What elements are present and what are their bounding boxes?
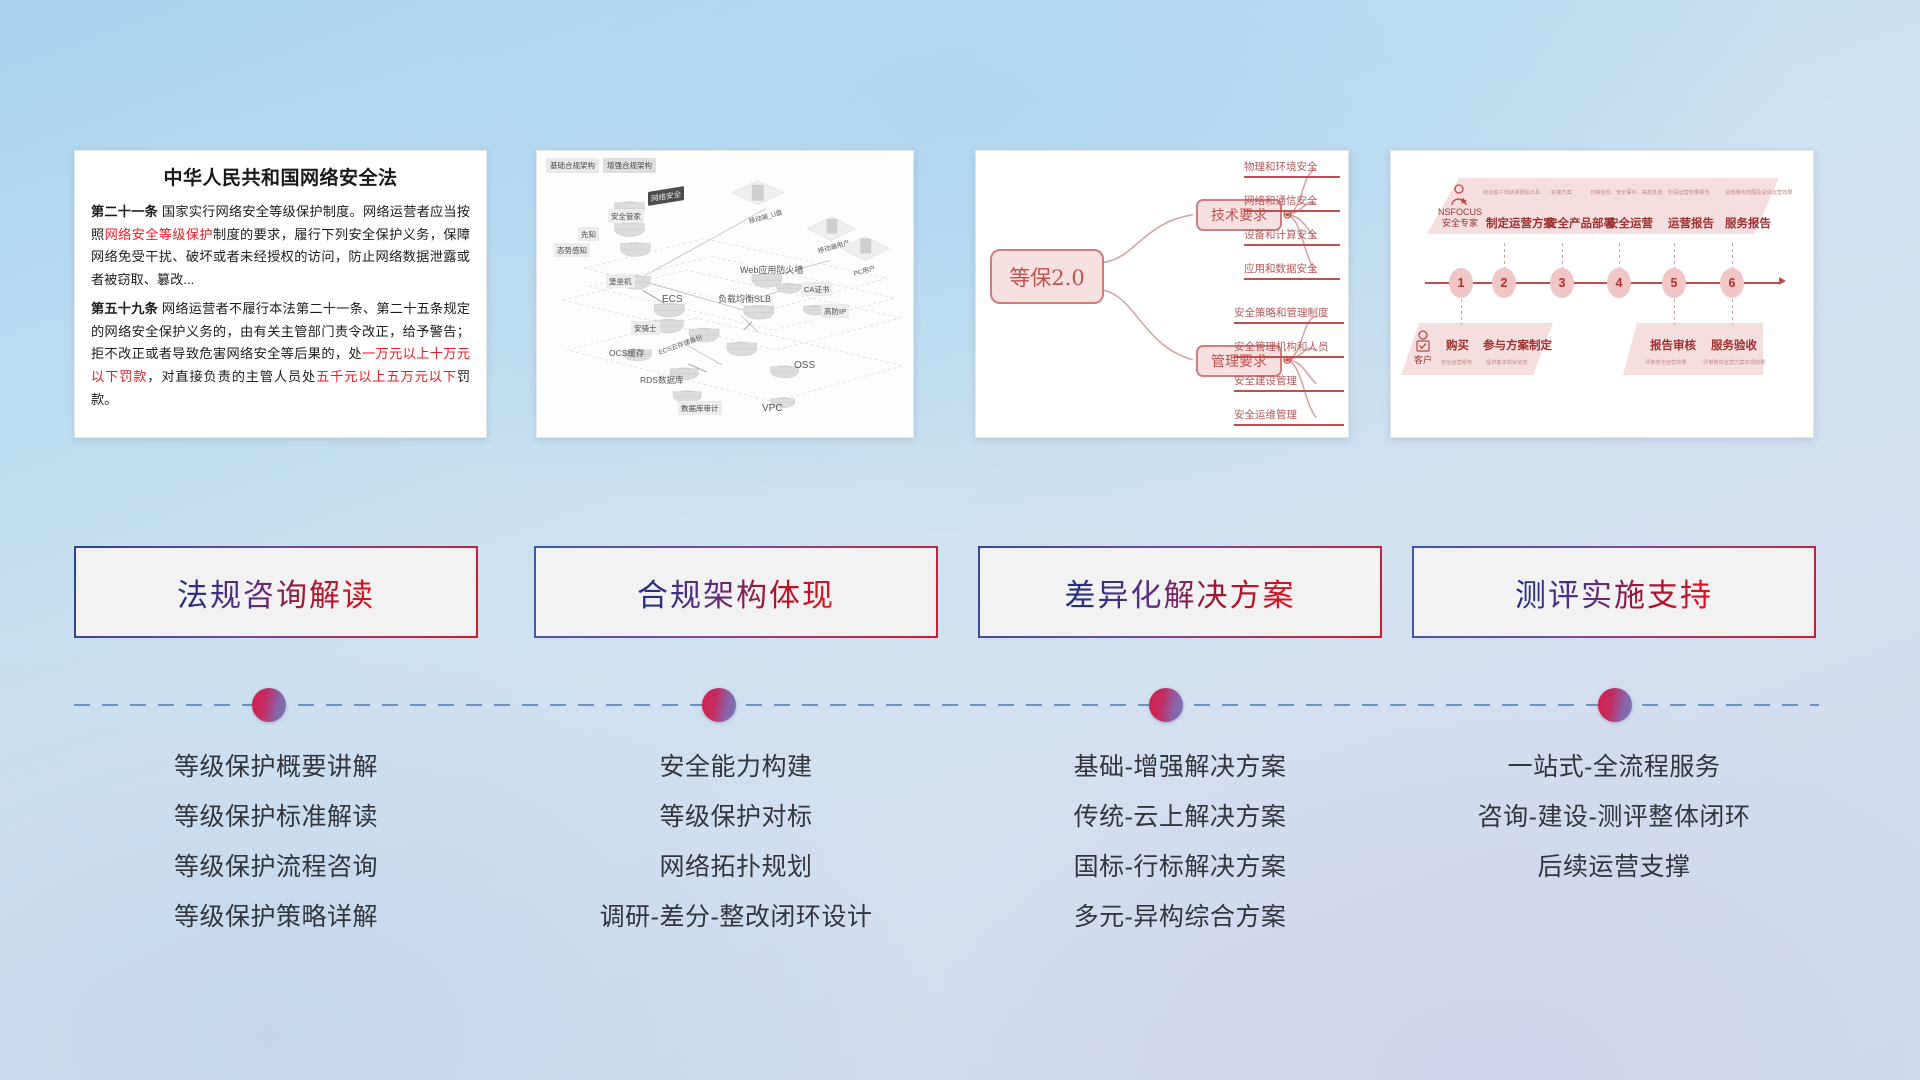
list-item: 传统-云上解决方案 bbox=[978, 792, 1382, 842]
law-article-21-label: 第二十一条 bbox=[91, 204, 158, 219]
arch-node-waf: Web应用防火墙 bbox=[737, 261, 806, 277]
section-header-evaluation-support[interactable]: 测评实施支持 bbox=[1412, 546, 1816, 638]
mindmap-leaf-label: 安全建设管理 bbox=[1234, 375, 1297, 387]
provider-role-line-2: 安全专家 bbox=[1442, 218, 1478, 228]
list-item: 调研-差分-整改闭环设计 bbox=[534, 892, 938, 942]
mindmap-leaf-app-data: 应用和数据安全 bbox=[1244, 261, 1340, 282]
card-compliance-architecture[interactable]: 基础合规架构 增强合规架构 bbox=[536, 150, 914, 438]
process-connector-1 bbox=[1461, 299, 1462, 325]
card-nsfocus-service-process[interactable]: NSFOCUS 安全专家 客户 结合客户现状调研后出具 制定运营方案 实施方案 … bbox=[1390, 150, 1814, 438]
mindmap-leaf-label: 安全运维管理 bbox=[1234, 409, 1297, 421]
process-step-1-note: 安全运营服务 bbox=[1441, 359, 1472, 366]
process-step-3-title: 安全产品部署 bbox=[1546, 215, 1615, 231]
process-node-6: 6 bbox=[1720, 268, 1744, 298]
section-header-label: 测评实施支持 bbox=[1515, 570, 1713, 615]
process-connector-6 bbox=[1732, 243, 1733, 269]
architecture-diagram: 基础合规架构 增强合规架构 bbox=[537, 151, 913, 437]
mindmap-leaf-ops-mgmt: 安全运维管理 bbox=[1234, 407, 1344, 428]
process-connector-4 bbox=[1619, 243, 1620, 269]
list-item: 一站式-全流程服务 bbox=[1412, 742, 1816, 792]
mindmap-leaf-org-personnel: 安全管理机构和人员 bbox=[1234, 339, 1344, 360]
process-node-1: 1 bbox=[1449, 268, 1473, 298]
list-item: 等级保护概要讲解 bbox=[74, 742, 478, 792]
process-step-4-title: 安全运营 bbox=[1607, 215, 1653, 231]
arch-node-anqishi: 安骑士 bbox=[631, 321, 660, 335]
thumbnail-card-row: 中华人民共和国网络安全法 第二十一条 国家实行网络安全等级保护制度。网络运营者应… bbox=[0, 150, 1920, 440]
timeline-dot-3[interactable] bbox=[1149, 688, 1183, 722]
mindmap-leaf-policy-system: 安全策略和管理制度 bbox=[1234, 305, 1344, 326]
detail-list-regulation-consulting: 等级保护概要讲解 等级保护标准解读 等级保护流程咨询 等级保护策略详解 bbox=[74, 742, 478, 942]
process-connector-6b bbox=[1732, 299, 1733, 325]
process-connector-5b bbox=[1674, 299, 1675, 325]
section-header-label: 差异化解决方案 bbox=[1065, 570, 1296, 615]
slide-canvas: 中华人民共和国网络安全法 第二十一条 国家实行网络安全等级保护制度。网络运营者应… bbox=[0, 0, 1920, 1080]
list-item: 国标-行标解决方案 bbox=[978, 842, 1382, 892]
law-article-59: 第五十九条 网络运营者不履行本法第二十一条、第二十五条规定的网络安全保护义务的，… bbox=[91, 298, 470, 412]
list-item: 网络拓扑规划 bbox=[534, 842, 938, 892]
list-item: 等级保护流程咨询 bbox=[74, 842, 478, 892]
law-article-59-part2: ，对直接负责的主管人员处 bbox=[147, 369, 316, 384]
process-connector-3 bbox=[1562, 243, 1563, 269]
list-item: 多元-异构综合方案 bbox=[978, 892, 1382, 942]
process-node-5: 5 bbox=[1662, 268, 1686, 298]
process-step-5b-note: 评审安全运营效果 bbox=[1645, 359, 1687, 366]
process-step-2-note: 结合客户现状调研后出具 bbox=[1483, 189, 1540, 196]
arch-node-situational-awareness: 态势感知 bbox=[554, 243, 590, 257]
list-item: 等级保护标准解读 bbox=[74, 792, 478, 842]
mindmap-leaf-label: 设备和计算安全 bbox=[1244, 229, 1318, 241]
process-step-6-title: 服务报告 bbox=[1725, 215, 1771, 231]
security-expert-icon bbox=[1449, 184, 1469, 206]
list-item: 等级保护策略详解 bbox=[74, 892, 478, 942]
mindmap-leaf-label: 安全策略和管理制度 bbox=[1234, 307, 1329, 319]
arch-node-security-butler: 安全管家 bbox=[608, 209, 644, 223]
detail-list-compliance-architecture: 安全能力构建 等级保护对标 网络拓扑规划 调研-差分-整改闭环设计 bbox=[534, 742, 938, 942]
section-header-label: 法规咨询解读 bbox=[177, 570, 375, 615]
law-article-21-highlight: 网络安全等级保护 bbox=[105, 227, 213, 242]
mindmap-root-node: 等保2.0 bbox=[990, 249, 1104, 304]
process-step-2b-title: 参与方案制定 bbox=[1483, 337, 1552, 353]
arch-node-vpc: VPC bbox=[759, 401, 786, 415]
arch-node-bastion-host: 堡垒机 bbox=[606, 274, 635, 288]
arch-node-slb: 负载均衡SLB bbox=[715, 290, 774, 306]
law-document: 中华人民共和国网络安全法 第二十一条 国家实行网络安全等级保护制度。网络运营者应… bbox=[75, 151, 486, 421]
section-header-row: 法规咨询解读 合规架构体现 差异化解决方案 测评实施支持 bbox=[0, 546, 1920, 638]
mindmap-leaf-label: 网络和通信安全 bbox=[1244, 195, 1318, 207]
process-step-3-note: 实施方案 bbox=[1551, 189, 1572, 196]
arch-node-database-audit: 数据库审计 bbox=[678, 401, 722, 415]
arch-node-ca-certificate: CA证书 bbox=[801, 282, 832, 296]
arch-node-rds-database: RDS数据库 bbox=[637, 372, 686, 387]
process-node-3: 3 bbox=[1550, 268, 1574, 298]
mindmap-leaf-label: 应用和数据安全 bbox=[1244, 263, 1318, 275]
list-item: 等级保护对标 bbox=[534, 792, 938, 842]
process-step-6b-title: 服务验收 bbox=[1711, 337, 1757, 353]
timeline-dot-1[interactable] bbox=[252, 688, 286, 722]
mindmap-leaf-label: 安全管理机构和人员 bbox=[1234, 341, 1329, 353]
arch-node-ecs: ECS bbox=[659, 292, 686, 306]
mindmap-diagram: 等保2.0 技术要求 管理要求 物理和环境安全 网络和通信安全 设备和计算安全 … bbox=[976, 151, 1348, 437]
list-item: 后续运营支撑 bbox=[1412, 842, 1816, 892]
process-node-4: 4 bbox=[1607, 268, 1631, 298]
process-step-5-note: 阶段运营效果报告 bbox=[1668, 189, 1710, 196]
arch-node-xianzhi: 先知 bbox=[578, 227, 599, 241]
process-step-5-title: 运营报告 bbox=[1668, 215, 1714, 231]
list-item: 安全能力构建 bbox=[534, 742, 938, 792]
mindmap-leaf-label: 物理和环境安全 bbox=[1244, 161, 1318, 173]
card-cybersecurity-law[interactable]: 中华人民共和国网络安全法 第二十一条 国家实行网络安全等级保护制度。网络运营者应… bbox=[74, 150, 487, 438]
detail-list-differentiated-solution: 基础-增强解决方案 传统-云上解决方案 国标-行标解决方案 多元-异构综合方案 bbox=[978, 742, 1382, 942]
detail-list-row: 等级保护概要讲解 等级保护标准解读 等级保护流程咨询 等级保护策略详解 安全能力… bbox=[0, 742, 1920, 972]
mindmap-leaf-physical-env: 物理和环境安全 bbox=[1244, 159, 1340, 180]
process-step-2b-note: 提供基本现状信息 bbox=[1486, 359, 1528, 366]
list-item: 基础-增强解决方案 bbox=[978, 742, 1382, 792]
process-step-6-note: 总结服务范围及总体运营效果 bbox=[1725, 189, 1792, 196]
section-header-differentiated-solution[interactable]: 差异化解决方案 bbox=[978, 546, 1382, 638]
process-axis-arrow-icon bbox=[1779, 277, 1786, 285]
law-article-59-highlight-2: 五千元以上五万元以下 bbox=[316, 369, 457, 384]
mindmap-leaf-device-compute: 设备和计算安全 bbox=[1244, 227, 1340, 248]
timeline bbox=[0, 688, 1920, 722]
process-step-4-note: 日常巡检、安全事件、高危处置 bbox=[1590, 189, 1663, 196]
section-header-inner: 差异化解决方案 bbox=[980, 548, 1380, 636]
section-header-regulation-consulting[interactable]: 法规咨询解读 bbox=[74, 546, 478, 638]
process-step-6b-note: 评审整体运营方案实现效果 bbox=[1703, 359, 1765, 366]
mindmap-leaf-construction-mgmt: 安全建设管理 bbox=[1234, 373, 1344, 394]
process-step-2-title: 制定运营方案 bbox=[1486, 215, 1555, 231]
process-node-2: 2 bbox=[1492, 268, 1516, 298]
provider-role-line-1: NSFOCUS bbox=[1438, 207, 1482, 217]
card-dengbao-mindmap[interactable]: 等保2.0 技术要求 管理要求 物理和环境安全 网络和通信安全 设备和计算安全 … bbox=[975, 150, 1349, 438]
arch-node-ocs-cache: OCS缓存 bbox=[606, 345, 647, 360]
customer-icon bbox=[1413, 330, 1433, 354]
timeline-dot-2[interactable] bbox=[702, 688, 736, 722]
timeline-dashed-line bbox=[74, 704, 1819, 706]
section-header-inner: 测评实施支持 bbox=[1414, 548, 1814, 636]
section-header-label: 合规架构体现 bbox=[637, 570, 835, 615]
detail-list-evaluation-support: 一站式-全流程服务 咨询-建设-测评整体闭环 后续运营支撑 bbox=[1412, 742, 1816, 892]
mindmap-leaf-network-comm: 网络和通信安全 bbox=[1244, 193, 1340, 214]
law-title: 中华人民共和国网络安全法 bbox=[91, 163, 470, 190]
arch-node-anti-ddos-ip: 高防IP bbox=[821, 304, 849, 318]
process-customer-role: 客户 bbox=[1405, 355, 1441, 366]
section-header-compliance-architecture[interactable]: 合规架构体现 bbox=[534, 546, 938, 638]
section-header-inner: 法规咨询解读 bbox=[76, 548, 476, 636]
process-connector-5 bbox=[1674, 243, 1675, 269]
list-item: 咨询-建设-测评整体闭环 bbox=[1412, 792, 1816, 842]
process-step-1-title: 购买 bbox=[1446, 337, 1469, 353]
process-connector-2 bbox=[1504, 243, 1505, 269]
process-step-5b-title: 报告审核 bbox=[1650, 337, 1696, 353]
law-article-21: 第二十一条 国家实行网络安全等级保护制度。网络运营者应当按照网络安全等级保护制度… bbox=[91, 201, 470, 292]
section-header-inner: 合规架构体现 bbox=[536, 548, 936, 636]
timeline-dot-4[interactable] bbox=[1598, 688, 1632, 722]
law-article-59-label: 第五十九条 bbox=[91, 301, 158, 316]
process-diagram: NSFOCUS 安全专家 客户 结合客户现状调研后出具 制定运营方案 实施方案 … bbox=[1391, 151, 1813, 437]
process-provider-role: NSFOCUS 安全专家 bbox=[1429, 207, 1491, 230]
arch-node-oss: OSS bbox=[791, 358, 818, 372]
